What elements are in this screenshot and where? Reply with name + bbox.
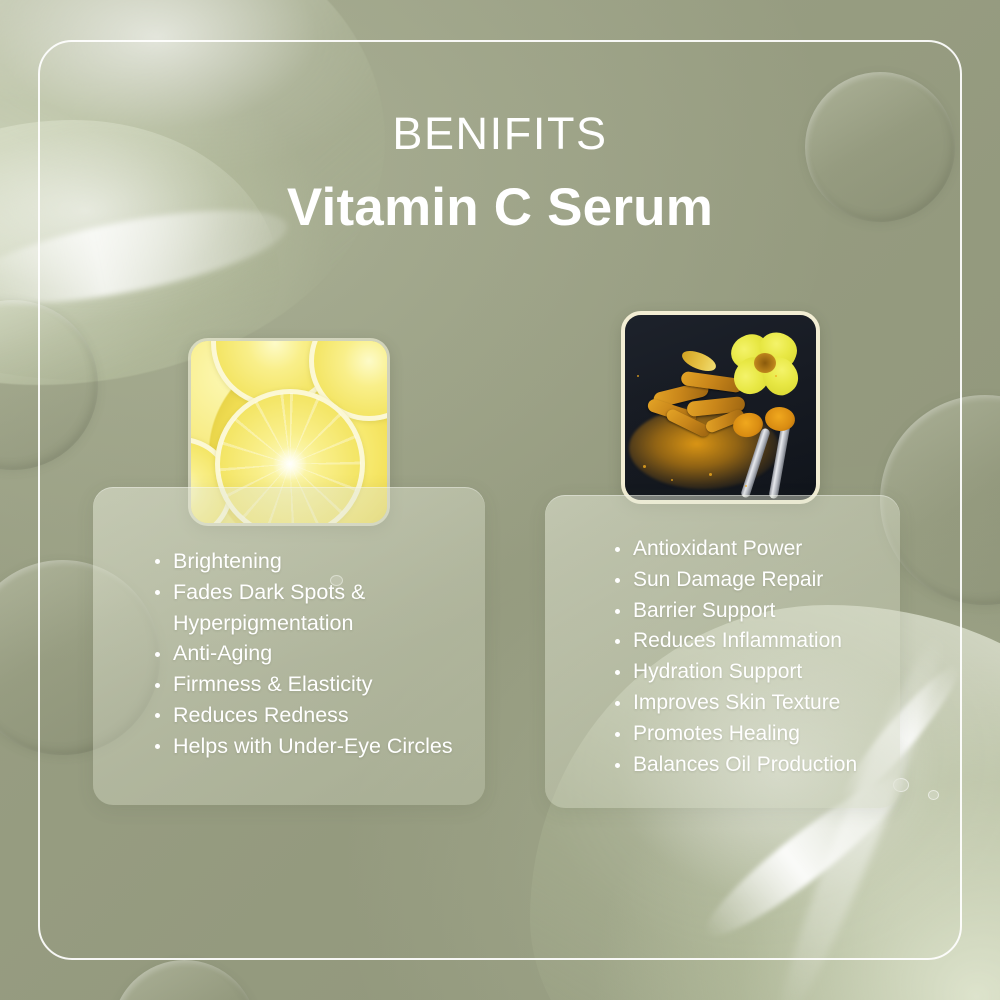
- list-item: Firmness & Elasticity: [153, 669, 483, 700]
- list-item: Sun Damage Repair: [613, 565, 903, 596]
- poster-canvas: BENIFITS Vitamin C Serum: [0, 0, 1000, 1000]
- yellow-flower-icon: [731, 333, 801, 395]
- page-title: Vitamin C Serum: [0, 179, 1000, 237]
- list-item: Balances Oil Production: [613, 750, 903, 781]
- decorative-circle-left: [0, 300, 98, 470]
- turmeric-photo: [625, 315, 816, 500]
- powder-speck: [709, 473, 712, 476]
- powder-speck: [643, 465, 646, 468]
- flower-center: [754, 353, 776, 373]
- turmeric-image-thumbnail: [621, 311, 820, 504]
- list-item: Helps with Under-Eye Circles: [153, 731, 483, 762]
- page-subtitle: BENIFITS: [0, 110, 1000, 157]
- heading-block: BENIFITS Vitamin C Serum: [0, 110, 1000, 238]
- list-item: Reduces Inflammation: [613, 626, 903, 657]
- list-item: Promotes Healing: [613, 719, 903, 750]
- lemon-core-highlight: [273, 447, 307, 481]
- list-item: Reduces Redness: [153, 700, 483, 731]
- list-item: Brightening: [153, 546, 483, 577]
- powder-speck: [671, 479, 673, 481]
- powder-speck: [637, 375, 639, 377]
- powder-speck: [775, 375, 777, 377]
- decorative-circle-bottom-middle: [112, 960, 257, 1000]
- powder-speck: [745, 485, 747, 487]
- list-item: Improves Skin Texture: [613, 688, 903, 719]
- list-item: Anti-Aging: [153, 638, 483, 669]
- benefits-list-right: Antioxidant PowerSun Damage RepairBarrie…: [613, 534, 903, 780]
- list-item: Hydration Support: [613, 657, 903, 688]
- list-item: Antioxidant Power: [613, 534, 903, 565]
- list-item: Barrier Support: [613, 596, 903, 627]
- list-item: Fades Dark Spots & Hyperpigmentation: [153, 577, 483, 639]
- benefits-list-left: BrighteningFades Dark Spots & Hyperpigme…: [153, 546, 483, 762]
- bubble-icon: [928, 790, 939, 800]
